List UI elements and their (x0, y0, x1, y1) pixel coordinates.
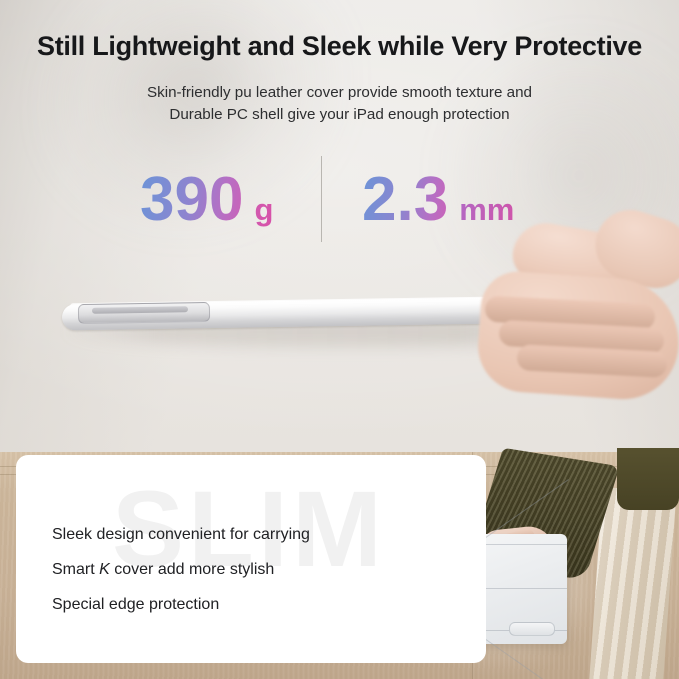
sweater-sleeve-secondary (617, 448, 679, 510)
hero-subtitle-line-1: Skin-friendly pu leather cover provide s… (0, 82, 679, 104)
feature-list: Sleek design convenient for carrying Sma… (52, 517, 472, 622)
list-item-text: Special edge protection (52, 596, 219, 613)
list-item-text: Sleek design convenient for carrying (52, 526, 310, 543)
hero-subtitle-line-2: Durable PC shell give your iPad enough p… (0, 104, 679, 126)
list-item-text-after: cover add more stylish (110, 561, 275, 578)
hero-subtitle: Skin-friendly pu leather cover provide s… (0, 82, 679, 126)
page-title: Still Lightweight and Sleek while Very P… (0, 31, 679, 62)
list-item: Smart K cover add more stylish (52, 552, 472, 587)
list-item-emphasis: K (99, 561, 110, 578)
list-item-text-before: Smart (52, 561, 99, 578)
hand-holding-tablet (455, 228, 679, 418)
hero-section: Still Lightweight and Sleek while Very P… (0, 0, 679, 452)
product-marketing-image: Still Lightweight and Sleek while Very P… (0, 0, 679, 679)
stat-weight-unit: g (254, 166, 273, 254)
stat-weight: 390 g (140, 156, 273, 244)
stat-divider (321, 156, 322, 242)
list-item: Sleek design convenient for carrying (52, 517, 472, 552)
stat-thickness-value: 2.3 (362, 156, 448, 244)
stat-weight-value: 390 (140, 156, 243, 244)
case-stand-tab (509, 622, 555, 636)
feature-card: SLIM Sleek design convenient for carryin… (16, 455, 486, 663)
list-item: Special edge protection (52, 587, 472, 622)
